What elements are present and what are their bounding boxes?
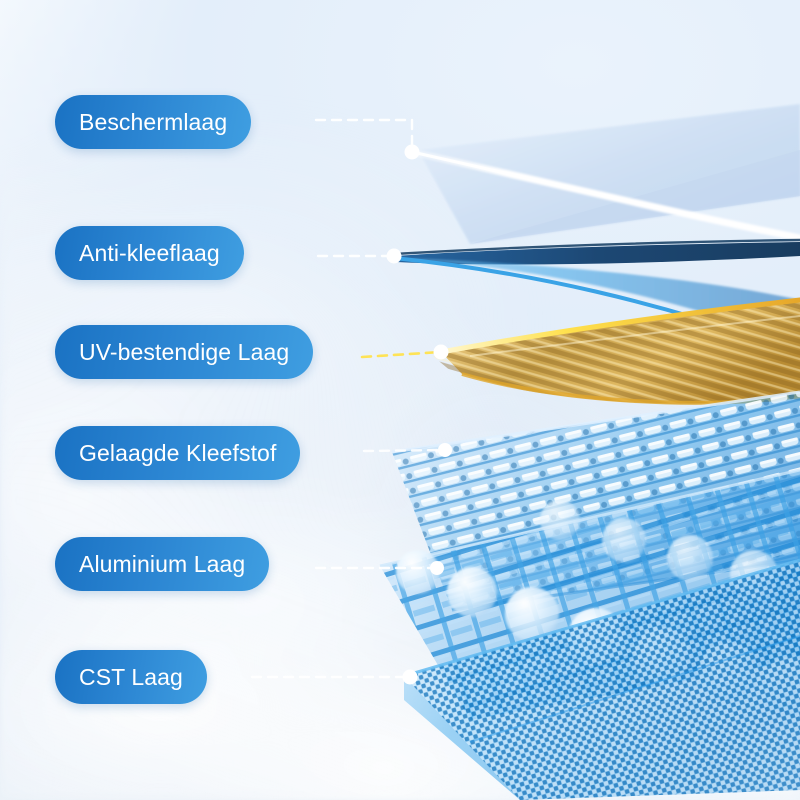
layer-label-text: UV-bestendige Laag	[79, 341, 289, 364]
layer-label-aluminium[interactable]: Aluminium Laag	[55, 537, 269, 591]
layer-diagram-figure: Beschermlaag Anti-kleeflaag UV-bestendig…	[0, 0, 800, 800]
layer-label-text: Beschermlaag	[79, 111, 227, 134]
layer-label-cst[interactable]: CST Laag	[55, 650, 207, 704]
layer-label-layered-adhesive[interactable]: Gelaagde Kleefstof	[55, 426, 300, 480]
layer-label-anti-stick[interactable]: Anti-kleeflaag	[55, 226, 244, 280]
layer-label-text: Gelaagde Kleefstof	[79, 442, 276, 465]
layer-label-text: Anti-kleeflaag	[79, 242, 220, 265]
layer-label-uv-resistant[interactable]: UV-bestendige Laag	[55, 325, 313, 379]
layer-label-protective[interactable]: Beschermlaag	[55, 95, 251, 149]
layer-label-text: CST Laag	[79, 666, 183, 689]
layer-label-text: Aluminium Laag	[79, 553, 245, 576]
